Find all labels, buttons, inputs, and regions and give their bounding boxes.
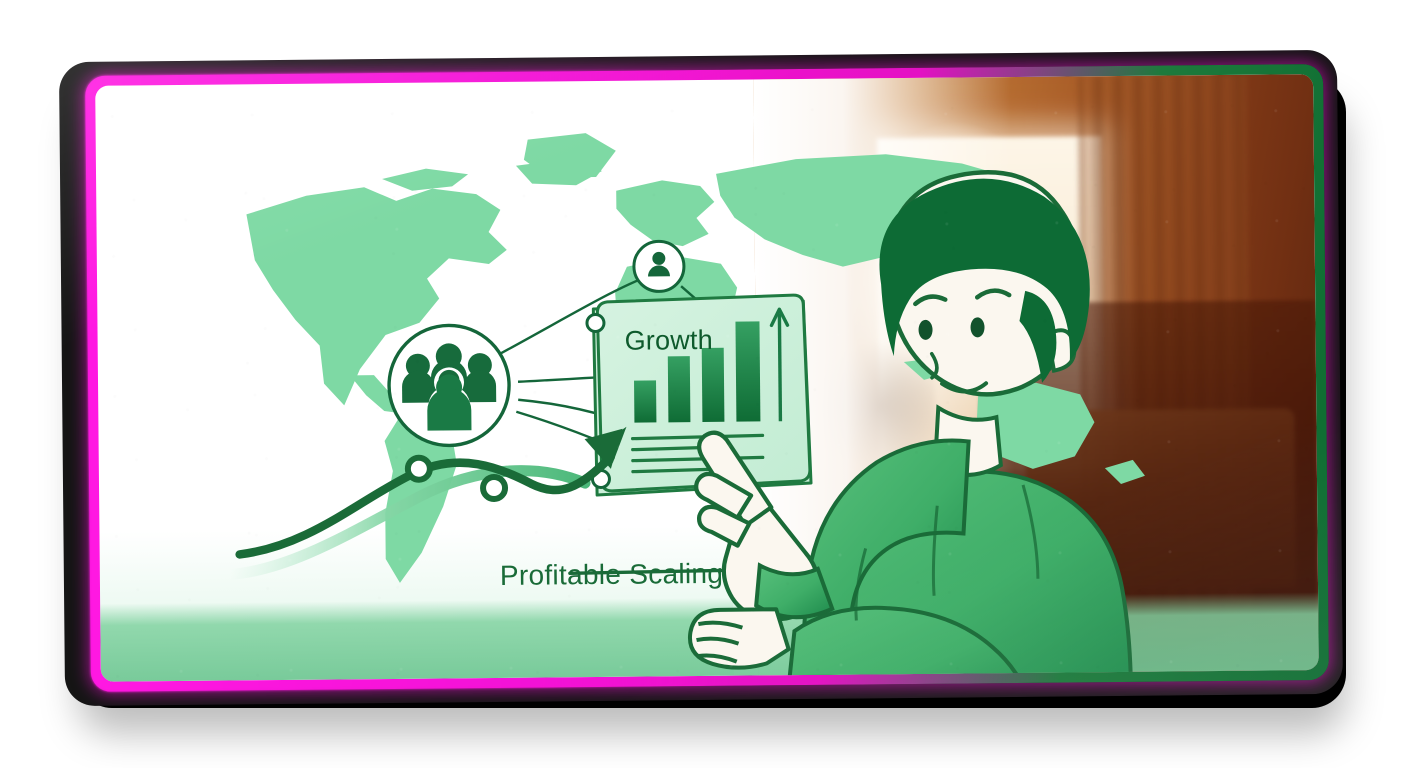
team-hub[interactable] (388, 325, 509, 446)
screen-content: Growth Profitable Scaling (95, 74, 1319, 682)
connector-node-tablet-top[interactable] (587, 314, 604, 331)
device-frame: Growth Profitable Scaling (59, 50, 1343, 706)
profitable-scaling-label: Profitable Scaling (500, 558, 724, 592)
screenshot-root: Growth Profitable Scaling (0, 0, 1408, 768)
growth-label: Growth (624, 325, 713, 357)
resting-hand (690, 609, 789, 668)
person-node[interactable] (634, 241, 684, 291)
illustration-layer (95, 74, 1319, 682)
